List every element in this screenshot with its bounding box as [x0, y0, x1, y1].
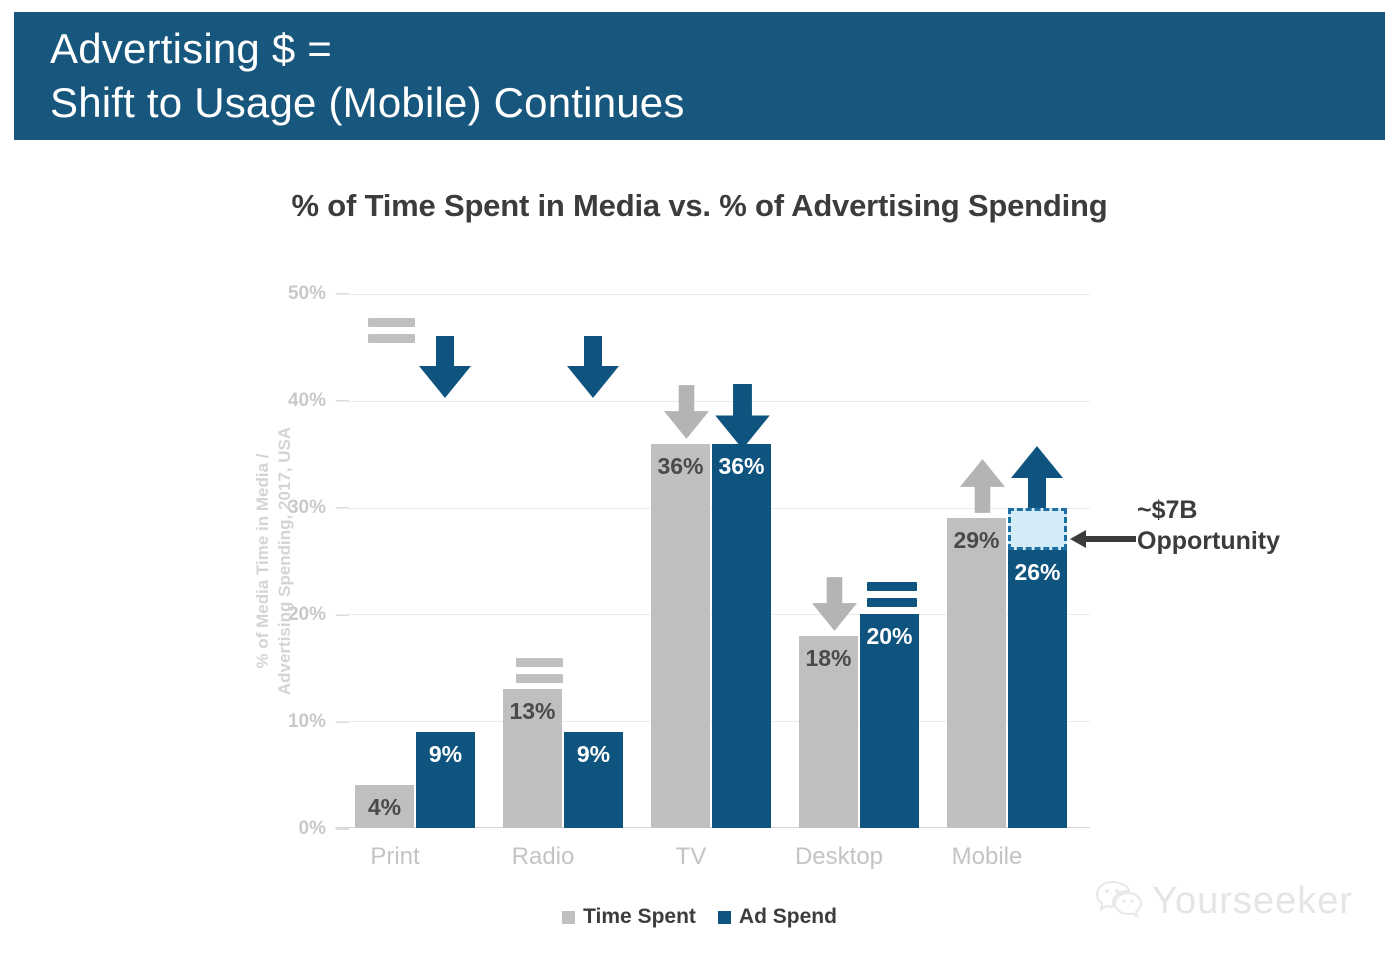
bar-label-print-time-spent: 4%: [368, 794, 401, 821]
bar-label-mobile-time-spent: 29%: [953, 527, 999, 554]
bar-group-mobile: 29% 26%: [947, 294, 1070, 828]
bar-label-radio-time-spent: 13%: [509, 698, 555, 725]
header-title-line-2: Shift to Usage (Mobile) Continues: [50, 76, 1385, 130]
chart-title: % of Time Spent in Media vs. % of Advert…: [0, 188, 1399, 224]
bar-tv-time-spent[interactable]: 36%: [651, 444, 710, 828]
legend-swatch-time-spent-icon: [562, 911, 575, 924]
equal-icon-desktop-ad-spend: [867, 582, 917, 607]
bar-group-print: 4% 9%: [355, 294, 478, 828]
legend-item-ad-spend[interactable]: Ad Spend: [718, 905, 837, 929]
bar-tv-ad-spend[interactable]: 36%: [712, 444, 771, 828]
watermark: Yourseeker: [1096, 880, 1353, 923]
bar-radio-ad-spend[interactable]: 9%: [564, 732, 623, 828]
bar-mobile-ad-spend[interactable]: 26%: [1008, 550, 1067, 828]
y-axis-title-line-2: Advertising Spending, 2017, USA: [274, 427, 296, 695]
header-banner: Advertising $ = Shift to Usage (Mobile) …: [14, 12, 1385, 140]
opportunity-dashed-box[interactable]: [1008, 508, 1067, 550]
wechat-logo-icon: [1096, 880, 1142, 923]
arrow-up-icon-mobile-ad-spend: [1011, 446, 1063, 508]
bar-group-radio: 13% 9%: [503, 294, 626, 828]
bar-mobile-time-spent[interactable]: 29%: [947, 518, 1006, 828]
bar-radio-time-spent[interactable]: 13%: [503, 689, 562, 828]
arrow-down-icon-radio-ad-spend: [567, 336, 619, 398]
legend-label-ad-spend: Ad Spend: [739, 905, 837, 929]
bar-label-tv-ad-spend: 36%: [718, 453, 764, 480]
bar-label-mobile-ad-spend: 26%: [1014, 559, 1060, 586]
bar-group-desktop: 18% 20%: [799, 294, 922, 828]
bar-print-ad-spend[interactable]: 9%: [416, 732, 475, 828]
bar-label-tv-time-spent: 36%: [657, 453, 703, 480]
x-axis-label-mobile: Mobile: [887, 843, 1087, 871]
y-axis-title: % of Media Time in Media / Advertising S…: [243, 294, 305, 828]
watermark-text: Yourseeker: [1152, 880, 1353, 923]
bar-desktop-ad-spend[interactable]: 20%: [860, 614, 919, 828]
bar-group-tv: 36% 36%: [651, 294, 774, 828]
y-tick-dash-0: [336, 828, 349, 830]
header-title-line-1: Advertising $ =: [50, 22, 1385, 76]
arrow-down-icon-tv-ad-spend: [715, 384, 770, 449]
y-axis-title-line-1: % of Media Time in Media /: [252, 453, 274, 668]
arrow-down-icon-print-ad-spend: [419, 336, 471, 398]
bar-print-time-spent[interactable]: 4%: [355, 785, 414, 828]
arrow-down-icon-desktop-time-spent: [812, 576, 857, 632]
opportunity-callout-line-1: ~$7B: [1095, 495, 1280, 526]
plot-area: % of Media Time in Media / Advertising S…: [335, 294, 1090, 828]
bar-desktop-time-spent[interactable]: 18%: [799, 636, 858, 828]
bar-label-print-ad-spend: 9%: [429, 741, 462, 768]
bar-label-radio-ad-spend: 9%: [577, 741, 610, 768]
bar-label-desktop-time-spent: 18%: [805, 645, 851, 672]
legend-label-time-spent: Time Spent: [583, 905, 696, 929]
equal-icon-print-time-spent: [368, 318, 415, 343]
arrow-up-icon-mobile-time-spent: [960, 458, 1005, 514]
opportunity-pointer-arrow-icon: [1070, 528, 1136, 555]
arrow-down-icon-tv-time-spent: [664, 384, 709, 440]
legend-swatch-ad-spend-icon: [718, 911, 731, 924]
equal-icon-radio-time-spent: [516, 658, 563, 683]
bar-label-desktop-ad-spend: 20%: [866, 623, 912, 650]
legend-item-time-spent[interactable]: Time Spent: [562, 905, 696, 929]
